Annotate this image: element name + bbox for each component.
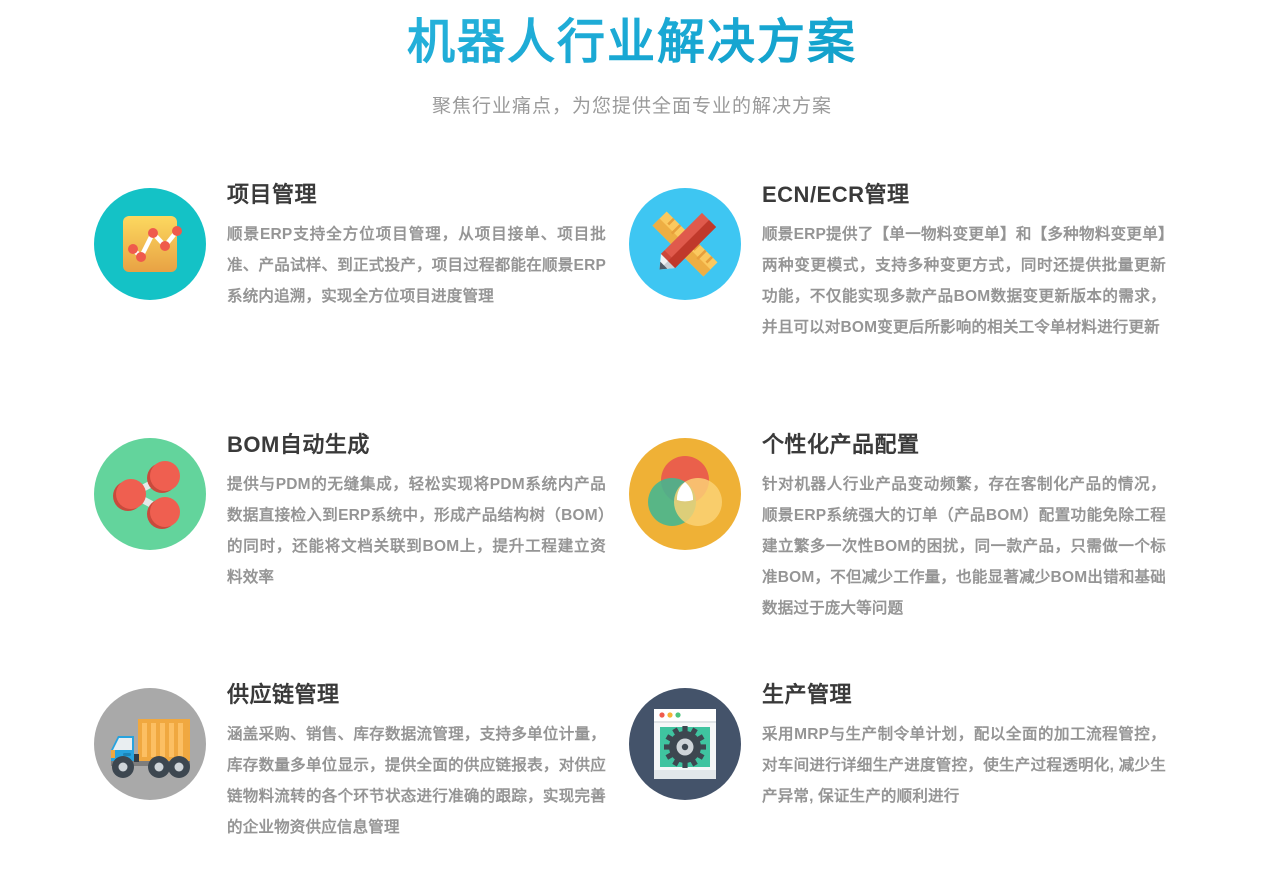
card-title: BOM自动生成 <box>227 432 606 458</box>
solutions-page: 机器人行业解决方案 聚焦行业痛点，为您提供全面专业的解决方案 <box>0 0 1264 860</box>
pencil-ruler-icon <box>629 188 741 300</box>
card-description: 顺景ERP提供了【单一物料变更单】和【多种物料变更单】两种变更模式，支持多种变更… <box>762 219 1166 343</box>
card-body: ECN/ECR管理 顺景ERP提供了【单一物料变更单】和【多种物料变更单】两种变… <box>741 180 1166 342</box>
share-nodes-icon <box>94 438 206 550</box>
solution-card-project-management[interactable]: 项目管理 顺景ERP支持全方位项目管理，从项目接单、项目批准、产品试样、到正式投… <box>94 180 629 430</box>
page-subtitle: 聚焦行业痛点，为您提供全面专业的解决方案 <box>0 91 1264 118</box>
window-gear-icon <box>629 688 741 800</box>
solution-card-ecn-ecr-management[interactable]: ECN/ECR管理 顺景ERP提供了【单一物料变更单】和【多种物料变更单】两种变… <box>629 180 1176 430</box>
card-description: 针对机器人行业产品变动频繁，存在客制化产品的情况，顺景ERP系统强大的订单（产品… <box>762 469 1166 624</box>
card-title: ECN/ECR管理 <box>762 182 1166 208</box>
card-description: 提供与PDM的无缝集成，轻松实现将PDM系统内产品数据直接检入到ERP系统中，形… <box>227 469 606 593</box>
card-title: 个性化产品配置 <box>762 432 1166 458</box>
solution-card-supply-chain-management[interactable]: 供应链管理 涵盖采购、销售、库存数据流管理，支持多单位计量，库存数量多单位显示，… <box>94 680 629 880</box>
line-chart-icon <box>94 188 206 300</box>
venn-circles-icon <box>629 438 741 550</box>
card-body: BOM自动生成 提供与PDM的无缝集成，轻松实现将PDM系统内产品数据直接检入到… <box>206 430 606 592</box>
card-body: 项目管理 顺景ERP支持全方位项目管理，从项目接单、项目批准、产品试样、到正式投… <box>206 180 606 311</box>
card-title: 项目管理 <box>227 182 606 208</box>
card-title: 供应链管理 <box>227 682 606 708</box>
card-body: 供应链管理 涵盖采购、销售、库存数据流管理，支持多单位计量，库存数量多单位显示，… <box>206 680 606 842</box>
page-header: 机器人行业解决方案 聚焦行业痛点，为您提供全面专业的解决方案 <box>0 0 1264 118</box>
card-description: 顺景ERP支持全方位项目管理，从项目接单、项目批准、产品试样、到正式投产，项目过… <box>227 219 606 312</box>
solution-card-production-management[interactable]: 生产管理 采用MRP与生产制令单计划，配以全面的加工流程管控，对车间进行详细生产… <box>629 680 1176 880</box>
page-title: 机器人行业解决方案 <box>0 12 1264 73</box>
card-title: 生产管理 <box>762 682 1166 708</box>
solution-card-custom-product-config[interactable]: 个性化产品配置 针对机器人行业产品变动频繁，存在客制化产品的情况，顺景ERP系统… <box>629 430 1176 680</box>
truck-icon <box>94 688 206 800</box>
card-description: 采用MRP与生产制令单计划，配以全面的加工流程管控，对车间进行详细生产进度管控，… <box>762 719 1166 812</box>
solution-card-bom-auto-generation[interactable]: BOM自动生成 提供与PDM的无缝集成，轻松实现将PDM系统内产品数据直接检入到… <box>94 430 629 680</box>
card-body: 个性化产品配置 针对机器人行业产品变动频繁，存在客制化产品的情况，顺景ERP系统… <box>741 430 1166 623</box>
card-description: 涵盖采购、销售、库存数据流管理，支持多单位计量，库存数量多单位显示，提供全面的供… <box>227 719 606 843</box>
card-body: 生产管理 采用MRP与生产制令单计划，配以全面的加工流程管控，对车间进行详细生产… <box>741 680 1166 811</box>
solutions-grid: 项目管理 顺景ERP支持全方位项目管理，从项目接单、项目批准、产品试样、到正式投… <box>0 180 1264 880</box>
